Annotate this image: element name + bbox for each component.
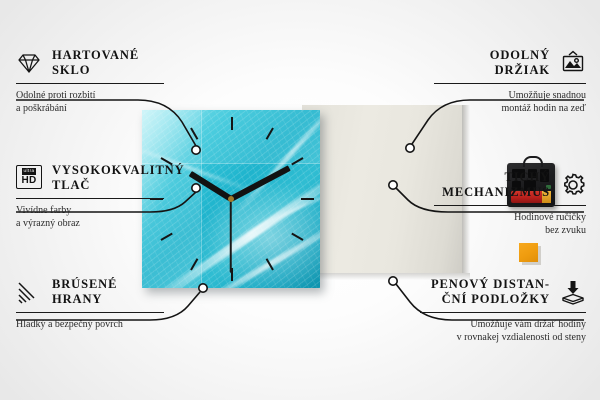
feature-tempered-glass: HARTOVANÉ SKLO Odolné proti rozbití a po… [16, 48, 164, 115]
feature-desc-line: bez zvuku [434, 224, 586, 237]
feature-header: PENOVÝ DISTAN- ČNÍ PODLOŽKY [420, 277, 586, 307]
feature-title-line: PENOVÝ DISTAN- [431, 277, 550, 292]
feature-title-line: HRANY [52, 292, 117, 307]
feature-title-line: TLAČ [52, 178, 185, 193]
ultra-hd-small-text: ultra [22, 168, 37, 175]
feature-desc-line: Vivídne farby [16, 204, 164, 217]
glass-pane-line [201, 110, 202, 288]
feature-header: BRÚSENÉ HRANY [16, 277, 164, 307]
feature-divider [16, 198, 164, 199]
feature-silent-mechanism: TICHÝ MECHANIZMUS Hodinové ručičky bez z… [434, 170, 586, 237]
feature-divider [434, 205, 586, 206]
feature-title-line: DRŽIAK [495, 63, 550, 78]
feature-header: HARTOVANÉ SKLO [16, 48, 164, 78]
ultra-hd-badge: ultra HD [16, 165, 42, 189]
product-photo: + [142, 104, 462, 284]
feature-titles: BRÚSENÉ HRANY [52, 277, 117, 307]
ultra-hd-large-text: HD [21, 176, 36, 186]
gear-icon [560, 172, 586, 198]
feature-header: ultra HD VYSOKOKVALITNÝ TLAČ [16, 163, 164, 193]
feature-title-line: ODOLNÝ [490, 48, 550, 63]
feature-desc-line: Hodinové ručičky [434, 211, 586, 224]
feature-desc-line: a výrazný obraz [16, 217, 164, 230]
ground-edges-icon [16, 279, 42, 305]
feature-desc-line: Odolné proti rozbití [16, 89, 164, 102]
feature-desc-line: Umožňuje vám držať hodiny [420, 318, 586, 331]
feature-divider [16, 83, 164, 84]
clock-second-hand [230, 199, 232, 273]
clock-tick [231, 117, 233, 130]
feature-ground-edges: BRÚSENÉ HRANY Hladký a bezpečný povrch [16, 277, 164, 331]
feature-foam-spacers: PENOVÝ DISTAN- ČNÍ PODLOŽKY Umožňuje vám… [420, 277, 586, 344]
foam-spacer-pad [519, 243, 538, 262]
ultra-hd-icon: ultra HD [16, 165, 42, 191]
feature-desc-line: v rovnakej vzdialenosti od steny [420, 331, 586, 344]
feature-titles: TICHÝ MECHANIZMUS [442, 170, 550, 200]
feature-titles: HARTOVANÉ SKLO [52, 48, 139, 78]
wall-clock-face [142, 110, 320, 288]
feature-durable-holder: ODOLNÝ DRŽIAK Umožňuje snadnou montáž ho… [434, 48, 586, 115]
feature-title-line: TICHÝ [505, 170, 550, 185]
feature-title-line: SKLO [52, 63, 139, 78]
feature-titles: VYSOKOKVALITNÝ TLAČ [52, 163, 185, 193]
feature-title-line: ČNÍ PODLOŽKY [442, 292, 550, 307]
clock-center-cap [228, 196, 234, 202]
diamond-icon [16, 50, 42, 76]
wall-hanger-icon [560, 50, 586, 76]
feature-divider [420, 312, 586, 313]
feature-divider [16, 312, 164, 313]
feature-title-line: HARTOVANÉ [52, 48, 139, 63]
feature-titles: ODOLNÝ DRŽIAK [490, 48, 550, 78]
clock-tick [301, 198, 314, 200]
feature-high-quality-print: ultra HD VYSOKOKVALITNÝ TLAČ Vivídne far… [16, 163, 164, 230]
feature-title-line: MECHANIZMUS [442, 185, 550, 200]
feature-header: ODOLNÝ DRŽIAK [434, 48, 586, 78]
spacer-pad-icon [560, 279, 586, 305]
feature-desc-line: Umožňuje snadnou [434, 89, 586, 102]
feature-desc-line: montáž hodin na zeď [434, 102, 586, 115]
feature-desc-line: a poškrábání [16, 102, 164, 115]
feature-desc-line: Hladký a bezpečný povrch [16, 318, 164, 331]
feature-title-line: VYSOKOKVALITNÝ [52, 163, 185, 178]
infographic-stage: + [0, 0, 600, 400]
feature-titles: PENOVÝ DISTAN- ČNÍ PODLOŽKY [431, 277, 550, 307]
feature-title-line: BRÚSENÉ [52, 277, 117, 292]
feature-header: TICHÝ MECHANIZMUS [434, 170, 586, 200]
feature-divider [434, 83, 586, 84]
